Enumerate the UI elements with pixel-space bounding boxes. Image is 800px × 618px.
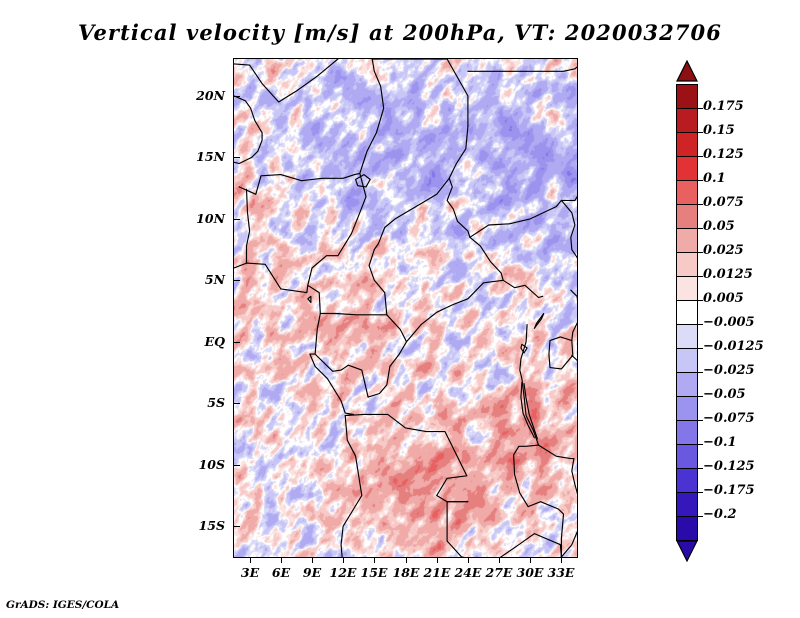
colorbar-label: 0.1 bbox=[703, 171, 726, 186]
y-axis-label: 10N bbox=[181, 211, 225, 226]
y-axis-tick bbox=[234, 280, 240, 281]
attribution-footer: GrADS: IGES/COLA bbox=[6, 599, 119, 611]
x-axis-label: 33E bbox=[541, 565, 581, 580]
colorbar-label: 0.075 bbox=[703, 195, 744, 210]
colorbar-cell bbox=[676, 492, 698, 517]
colorbar-cell bbox=[676, 396, 698, 421]
colorbar-label: −0.05 bbox=[703, 387, 746, 402]
colorbar-label: 0.05 bbox=[703, 219, 735, 234]
y-axis-label: 5S bbox=[181, 395, 225, 410]
colorbar-cell bbox=[676, 204, 698, 229]
colorbar-cell bbox=[676, 516, 698, 541]
colorbar: 0.1750.150.1250.10.0750.050.0250.01250.0… bbox=[672, 60, 792, 560]
colorbar-label: −0.005 bbox=[703, 315, 755, 330]
colorbar-cell bbox=[676, 348, 698, 373]
y-axis-tick bbox=[234, 219, 240, 220]
y-axis-label: 10S bbox=[181, 457, 225, 472]
colorbar-label: 0.125 bbox=[703, 147, 744, 162]
x-axis-tick bbox=[530, 557, 531, 563]
x-axis-tick bbox=[374, 557, 375, 563]
colorbar-max-arrow-icon bbox=[676, 60, 698, 82]
x-axis-tick bbox=[437, 557, 438, 563]
colorbar-cell bbox=[676, 108, 698, 133]
colorbar-cell bbox=[676, 300, 698, 325]
colorbar-label: −0.175 bbox=[703, 483, 755, 498]
colorbar-cell bbox=[676, 324, 698, 349]
colorbar-label: 0.15 bbox=[703, 123, 735, 138]
colorbar-label: 0.175 bbox=[703, 99, 744, 114]
colorbar-label: −0.125 bbox=[703, 459, 755, 474]
plot-frame bbox=[233, 58, 578, 558]
colorbar-cell bbox=[676, 132, 698, 157]
x-axis-tick bbox=[250, 557, 251, 563]
y-axis-tick bbox=[234, 157, 240, 158]
y-axis-tick bbox=[234, 403, 240, 404]
colorbar-label: −0.0125 bbox=[703, 339, 764, 354]
colorbar-label: 0.025 bbox=[703, 243, 744, 258]
colorbar-cell bbox=[676, 420, 698, 445]
y-axis-tick bbox=[234, 96, 240, 97]
colorbar-cell bbox=[676, 372, 698, 397]
colorbar-min-arrow-icon bbox=[676, 540, 698, 562]
x-axis-tick bbox=[406, 557, 407, 563]
y-axis-label: 20N bbox=[181, 88, 225, 103]
colorbar-cell bbox=[676, 180, 698, 205]
y-axis-label: 15S bbox=[181, 518, 225, 533]
vertical-velocity-field bbox=[234, 59, 577, 557]
colorbar-label: −0.1 bbox=[703, 435, 737, 450]
y-axis-tick bbox=[234, 342, 240, 343]
colorbar-cell bbox=[676, 468, 698, 493]
colorbar-label: −0.075 bbox=[703, 411, 755, 426]
colorbar-cell bbox=[676, 444, 698, 469]
x-axis-tick bbox=[281, 557, 282, 563]
y-axis-tick bbox=[234, 465, 240, 466]
colorbar-cell bbox=[676, 228, 698, 253]
colorbar-label: 0.0125 bbox=[703, 267, 753, 282]
page-title: Vertical velocity [m/s] at 200hPa, VT: 2… bbox=[0, 20, 800, 45]
y-axis-label: 15N bbox=[181, 149, 225, 164]
x-axis-tick bbox=[468, 557, 469, 563]
colorbar-label: 0.005 bbox=[703, 291, 744, 306]
y-axis-label: EQ bbox=[181, 334, 225, 349]
colorbar-cell bbox=[676, 252, 698, 277]
x-axis-tick bbox=[312, 557, 313, 563]
x-axis-tick bbox=[499, 557, 500, 563]
y-axis-label: 5N bbox=[181, 272, 225, 287]
map-plot-area bbox=[233, 58, 578, 558]
colorbar-cell bbox=[676, 156, 698, 181]
colorbar-label: −0.025 bbox=[703, 363, 755, 378]
colorbar-cell bbox=[676, 276, 698, 301]
x-axis-tick bbox=[561, 557, 562, 563]
colorbar-cell bbox=[676, 84, 698, 109]
colorbar-label: −0.2 bbox=[703, 507, 737, 522]
x-axis-tick bbox=[343, 557, 344, 563]
y-axis-tick bbox=[234, 526, 240, 527]
